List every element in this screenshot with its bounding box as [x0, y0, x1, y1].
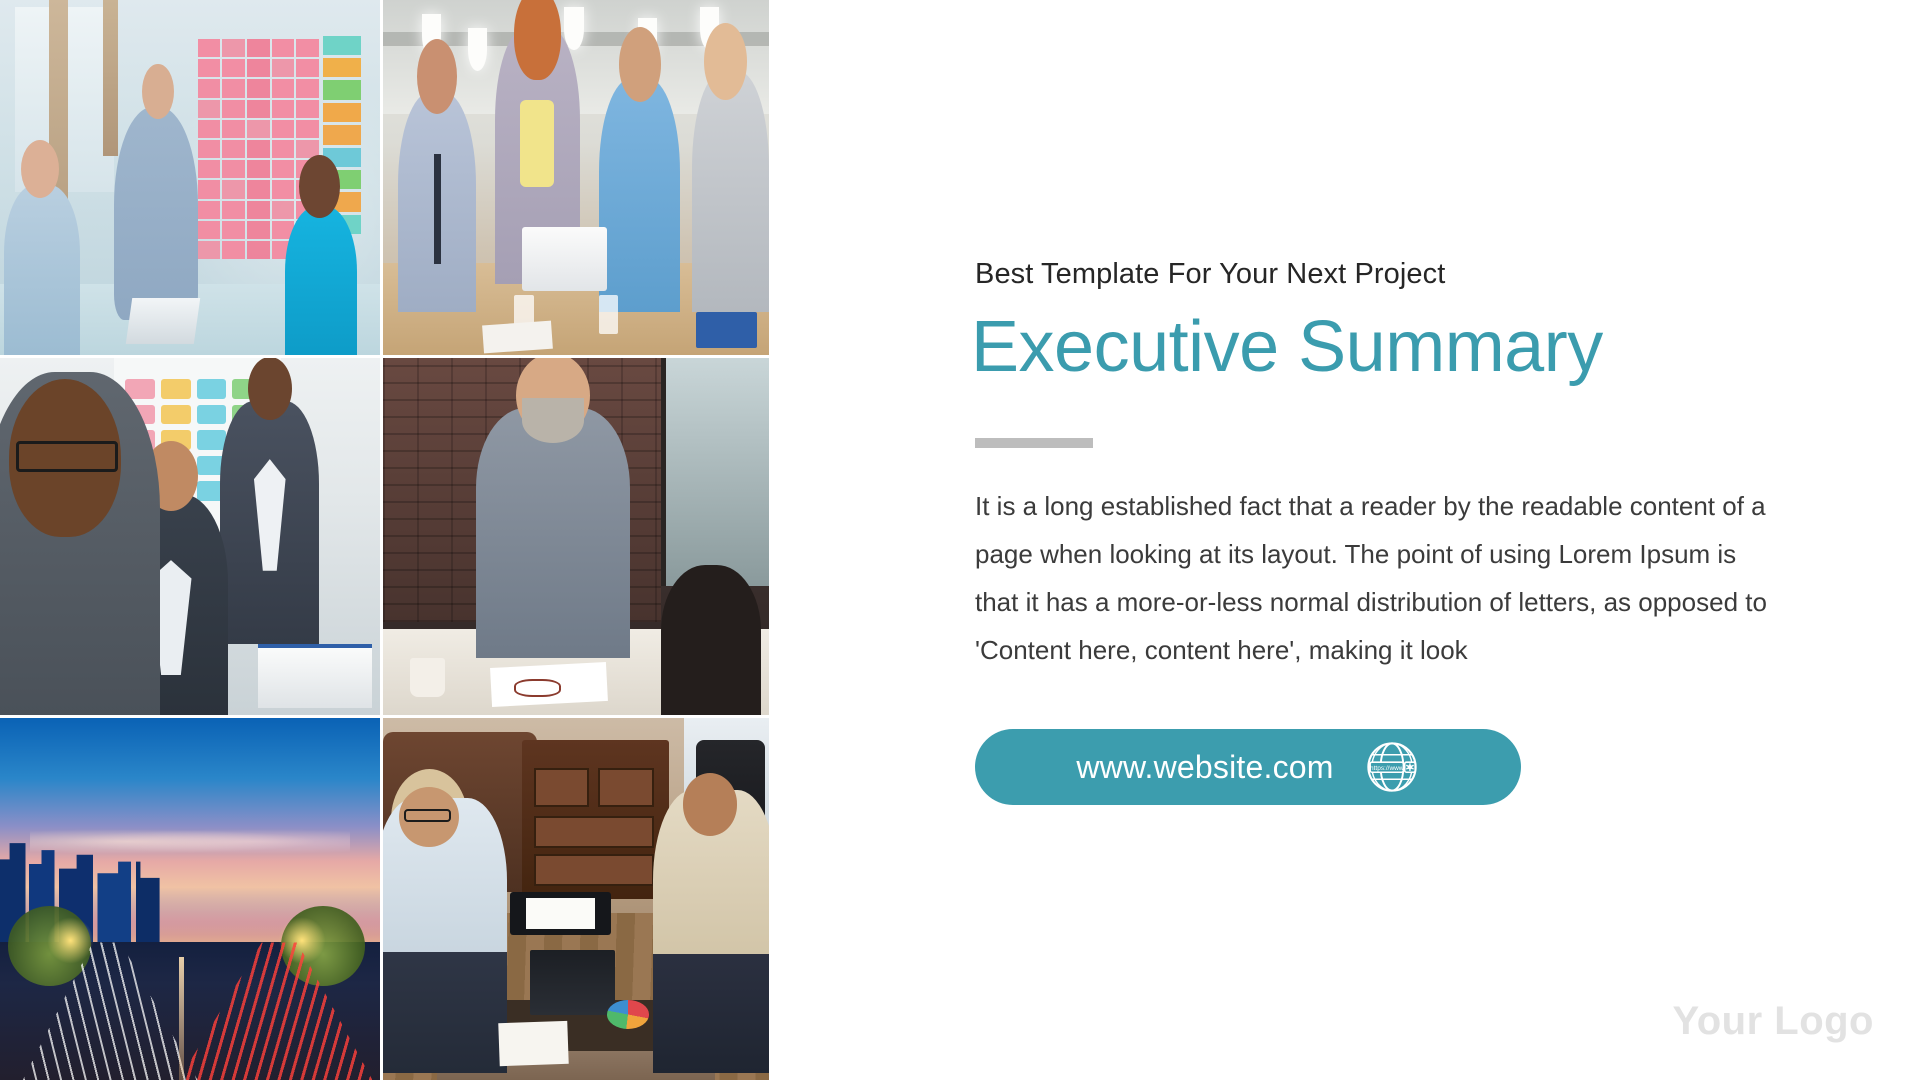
photo-bearded-man-brickwall [383, 358, 769, 715]
photo-collage: team workshop with pink sticky notes on … [0, 0, 769, 1080]
website-cta-button[interactable]: www.website.com https://www [975, 729, 1521, 805]
globe-icon: https://www [1364, 739, 1420, 795]
photo-businesswoman-office [0, 358, 380, 715]
website-cta-label: www.website.com [1076, 749, 1333, 786]
page-title: Executive Summary [971, 310, 1603, 386]
content-panel: Best Template For Your Next Project Exec… [975, 0, 1920, 1080]
photo-conference-meeting [383, 0, 769, 355]
title-divider-bar [975, 438, 1093, 448]
collage-photo-middle-right: bearded man writing notes at a table by … [383, 358, 769, 718]
collage-photo-top-left: team workshop with pink sticky notes on … [0, 0, 383, 358]
photo-two-men-discussion [383, 718, 769, 1080]
collage-photo-bottom-right: two men discussing charts with laptop an… [383, 718, 769, 1080]
collage-photo-bottom-left: city skyline at dusk with highway light … [0, 718, 383, 1080]
collage-photo-middle-left: smiling businesswoman with glasses and c… [0, 358, 383, 718]
svg-text:https://www: https://www [1370, 765, 1404, 772]
body-paragraph: It is a long established fact that a rea… [975, 482, 1775, 674]
eyebrow-text: Best Template For Your Next Project [975, 258, 1445, 291]
collage-photo-top-right: business team meeting around conference … [383, 0, 769, 358]
logo-watermark: Your Logo [1673, 999, 1875, 1044]
photo-city-night-traffic [0, 718, 380, 1080]
photo-workshop-sticky-notes [0, 0, 380, 355]
